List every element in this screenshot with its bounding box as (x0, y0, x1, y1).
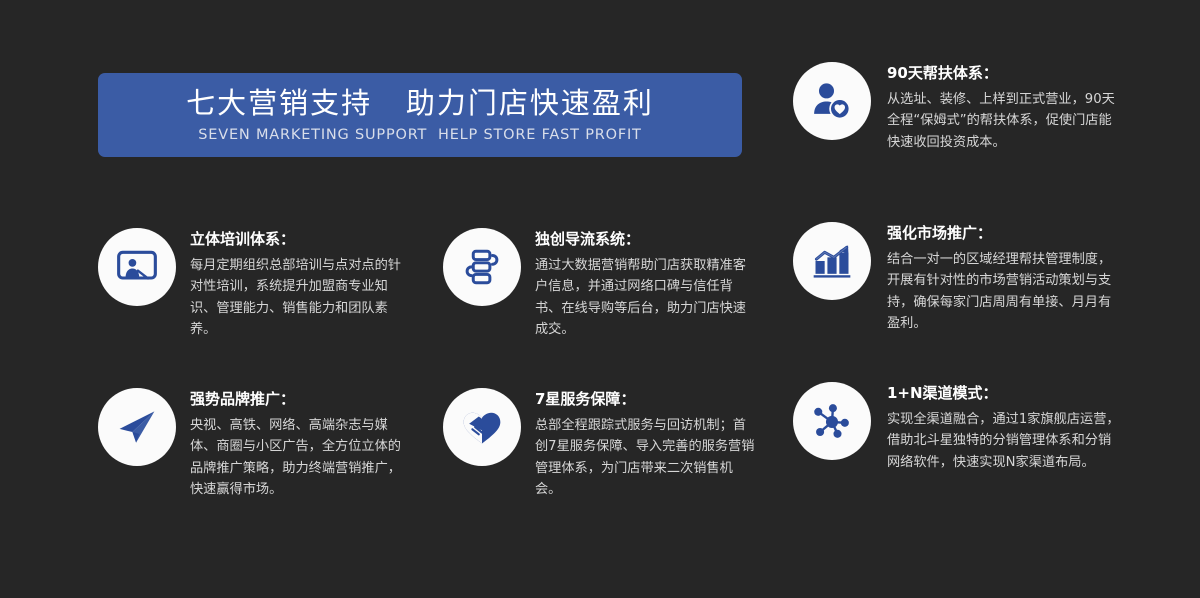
flow-diagram-icon (443, 228, 521, 306)
feature-card-text: 1+N渠道模式： 实现全渠道融合，通过1家旗舰店运营，借助北斗星独特的分销管理体… (887, 382, 1123, 473)
feature-card-body: 实现全渠道融合，通过1家旗舰店运营，借助北斗星独特的分销管理体系和分销网络软件，… (887, 409, 1123, 473)
feature-card-text: 7星服务保障： 总部全程跟踪式服务与回访机制；首创7星服务保障、导入完善的服务营… (535, 388, 757, 501)
feature-card-body: 通过大数据营销帮助门店获取精准客户信息，并通过网络口碑与信任背书、在线导购等后台… (535, 255, 757, 341)
feature-card-body: 每月定期组织总部培训与点对点的针对性培训，系统提升加盟商专业知识、管理能力、销售… (190, 255, 412, 341)
feature-card-title: 强势品牌推广： (190, 390, 412, 408)
feature-card-text: 独创导流系统： 通过大数据营销帮助门店获取精准客户信息，并通过网络口碑与信任背书… (535, 228, 757, 341)
training-board-icon (98, 228, 176, 306)
feature-card-training-system: 立体培训体系： 每月定期组织总部培训与点对点的针对性培训，系统提升加盟商专业知识… (98, 228, 428, 341)
feature-card-title: 90天帮扶体系： (887, 64, 1123, 82)
feature-card-title: 7星服务保障： (535, 390, 757, 408)
feature-card-service-guarantee: 7星服务保障： 总部全程跟踪式服务与回访机制；首创7星服务保障、导入完善的服务营… (443, 388, 773, 501)
feature-card-text: 90天帮扶体系： 从选址、装修、上样到正式营业，90天全程“保姆式”的帮扶体系，… (887, 62, 1123, 153)
person-heart-icon (793, 62, 871, 140)
feature-card-body: 央视、高铁、网络、高端杂志与媒体、商圈与小区广告，全方位立体的品牌推广策略，助力… (190, 415, 412, 501)
banner-title: 七大营销支持 助力门店快速盈利 (186, 87, 654, 120)
feature-card-body: 结合一对一的区域经理帮扶管理制度，开展有针对性的市场营销活动策划与支持，确保每家… (887, 249, 1123, 335)
banner-subtitle: SEVEN MARKETING SUPPORT HELP STORE FAST … (198, 127, 641, 143)
feature-card-channel-model: 1+N渠道模式： 实现全渠道融合，通过1家旗舰店运营，借助北斗星独特的分销管理体… (793, 382, 1133, 473)
bar-chart-growth-icon (793, 222, 871, 300)
network-nodes-icon (793, 382, 871, 460)
feature-card-body: 总部全程跟踪式服务与回访机制；首创7星服务保障、导入完善的服务营销管理体系，为门… (535, 415, 757, 501)
feature-card-market-promotion: 强化市场推广： 结合一对一的区域经理帮扶管理制度，开展有针对性的市场营销活动策划… (793, 222, 1133, 335)
headline-banner: 七大营销支持 助力门店快速盈利 SEVEN MARKETING SUPPORT … (98, 73, 742, 157)
feature-card-title: 强化市场推广： (887, 224, 1123, 242)
feature-card-support-system: 90天帮扶体系： 从选址、装修、上样到正式营业，90天全程“保姆式”的帮扶体系，… (793, 62, 1133, 153)
feature-card-title: 立体培训体系： (190, 230, 412, 248)
feature-card-title: 1+N渠道模式： (887, 384, 1123, 402)
feature-card-text: 立体培训体系： 每月定期组织总部培训与点对点的针对性培训，系统提升加盟商专业知识… (190, 228, 412, 341)
paper-plane-icon (98, 388, 176, 466)
feature-card-brand-promotion: 强势品牌推广： 央视、高铁、网络、高端杂志与媒体、商圈与小区广告，全方位立体的品… (98, 388, 428, 501)
feature-card-body: 从选址、装修、上样到正式营业，90天全程“保姆式”的帮扶体系，促使门店能快速收回… (887, 89, 1123, 153)
feature-card-text: 强势品牌推广： 央视、高铁、网络、高端杂志与媒体、商圈与小区广告，全方位立体的品… (190, 388, 412, 501)
feature-card-title: 独创导流系统： (535, 230, 757, 248)
feature-card-traffic-system: 独创导流系统： 通过大数据营销帮助门店获取精准客户信息，并通过网络口碑与信任背书… (443, 228, 773, 341)
poster-canvas: 七大营销支持 助力门店快速盈利 SEVEN MARKETING SUPPORT … (0, 0, 1200, 598)
feature-card-text: 强化市场推广： 结合一对一的区域经理帮扶管理制度，开展有针对性的市场营销活动策划… (887, 222, 1123, 335)
handshake-heart-icon (443, 388, 521, 466)
